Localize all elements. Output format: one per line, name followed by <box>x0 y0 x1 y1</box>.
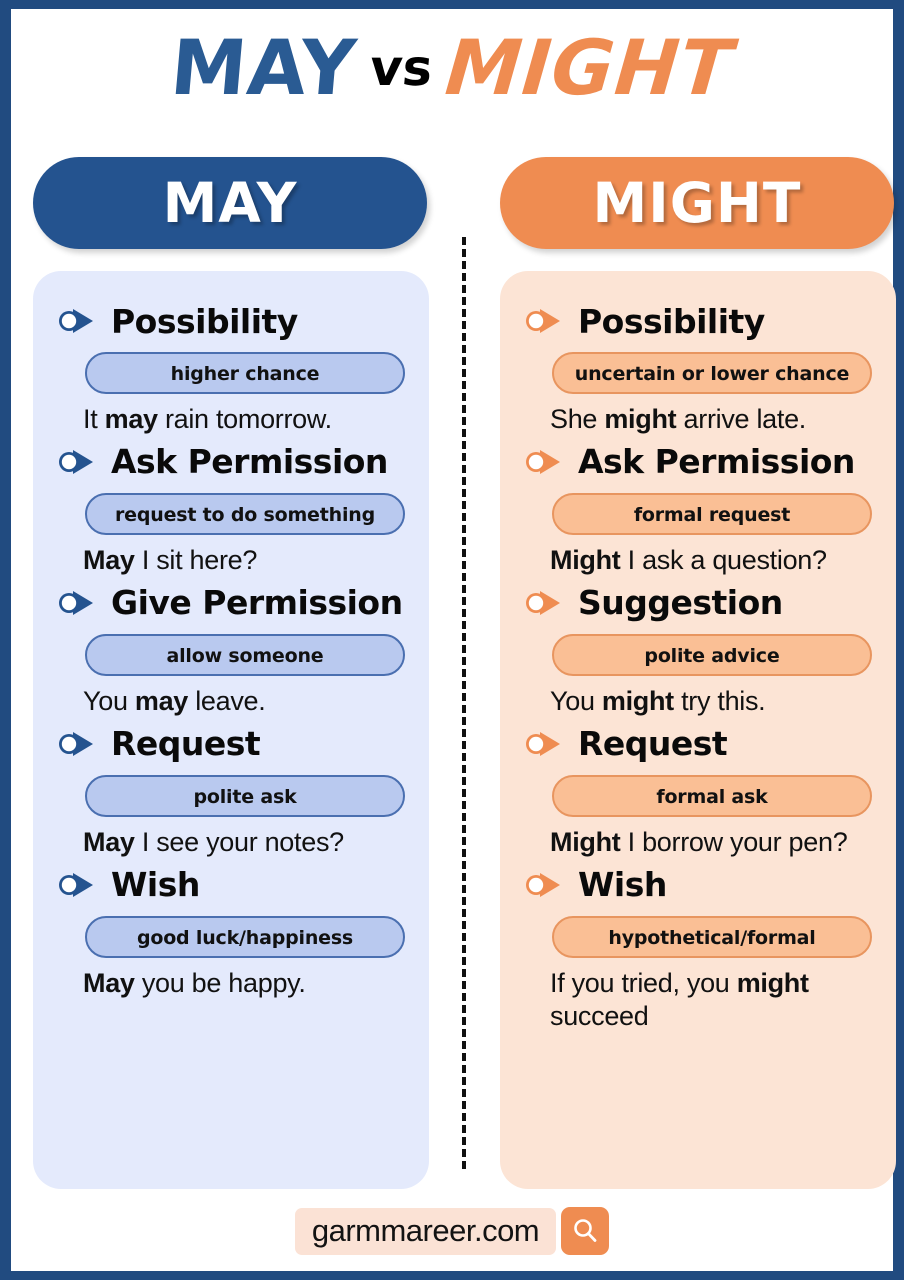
entry-example-keyword: may <box>135 686 188 716</box>
entry-title: Request <box>111 727 260 760</box>
arrow-bullet-icon <box>524 729 568 759</box>
title-word-might: MIGHT <box>443 30 736 106</box>
arrow-bullet-icon <box>57 870 101 900</box>
search-button[interactable] <box>561 1207 609 1255</box>
entry-title: Request <box>578 727 727 760</box>
entry-example-keyword: might <box>604 404 676 434</box>
arrow-bullet-icon <box>57 588 101 618</box>
entry-header: Possibility <box>524 297 872 345</box>
entry-title: Wish <box>578 868 667 901</box>
arrow-bullet-icon <box>524 447 568 477</box>
entry-may-3: Requestpolite askMay I see your notes? <box>57 720 405 859</box>
entry-might-3: Requestformal askMight I borrow your pen… <box>524 720 872 859</box>
entry-tag: request to do something <box>85 493 405 535</box>
arrow-bullet-icon <box>57 447 101 477</box>
entry-tag: formal ask <box>552 775 872 817</box>
entry-may-4: Wishgood luck/happinessMay you be happy. <box>57 861 405 1000</box>
entry-header: Wish <box>57 861 405 909</box>
search-icon <box>570 1216 600 1246</box>
entry-example: May you be happy. <box>83 967 405 1000</box>
entry-example-keyword: might <box>602 686 674 716</box>
entry-title: Suggestion <box>578 586 783 619</box>
infographic-page: MAY vs MIGHT MAY MIGHT Possibilityhigher… <box>0 0 904 1280</box>
entry-example-keyword: May <box>83 968 135 998</box>
entry-example: May I see your notes? <box>83 826 405 859</box>
column-header-may: MAY <box>33 157 427 249</box>
entry-tag: good luck/happiness <box>85 916 405 958</box>
column-divider <box>462 237 466 1169</box>
entry-title: Ask Permission <box>578 445 855 478</box>
entry-example: If you tried, you might succeed <box>550 967 872 1033</box>
entry-tag: allow someone <box>85 634 405 676</box>
arrow-bullet-icon <box>57 729 101 759</box>
column-header-might: MIGHT <box>500 157 894 249</box>
arrow-bullet-icon <box>57 306 101 336</box>
entry-example: Might I borrow your pen? <box>550 826 872 859</box>
entry-example-keyword: May <box>83 827 135 857</box>
column-header-might-label: MIGHT <box>593 171 802 235</box>
entry-title: Possibility <box>578 305 765 338</box>
entry-example-keyword: might <box>737 968 809 998</box>
entry-title: Ask Permission <box>111 445 388 478</box>
entry-title: Possibility <box>111 305 298 338</box>
entry-example: Might I ask a question? <box>550 544 872 577</box>
entry-header: Ask Permission <box>57 438 405 486</box>
entry-example: You might try this. <box>550 685 872 718</box>
card-might: Possibilityuncertain or lower chanceShe … <box>500 271 896 1189</box>
entry-might-2: Suggestionpolite adviceYou might try thi… <box>524 579 872 718</box>
entry-header: Give Permission <box>57 579 405 627</box>
entry-might-4: Wishhypothetical/formalIf you tried, you… <box>524 861 872 1033</box>
entry-tag: hypothetical/formal <box>552 916 872 958</box>
entry-example-keyword: May <box>83 545 135 575</box>
entry-may-2: Give Permissionallow someoneYou may leav… <box>57 579 405 718</box>
entry-may-0: Possibilityhigher chanceIt may rain tomo… <box>57 297 405 436</box>
entry-title: Give Permission <box>111 586 403 619</box>
entry-example: She might arrive late. <box>550 403 872 436</box>
title-connector-vs: vs <box>368 43 435 93</box>
entry-tag: uncertain or lower chance <box>552 352 872 394</box>
entry-title: Wish <box>111 868 200 901</box>
entry-header: Request <box>57 720 405 768</box>
entry-header: Suggestion <box>524 579 872 627</box>
entry-might-0: Possibilityuncertain or lower chanceShe … <box>524 297 872 436</box>
entry-tag: polite ask <box>85 775 405 817</box>
entry-tag: polite advice <box>552 634 872 676</box>
entry-header: Possibility <box>57 297 405 345</box>
footer-url: garmmareer.com <box>295 1208 556 1255</box>
entry-tag: formal request <box>552 493 872 535</box>
arrow-bullet-icon <box>524 588 568 618</box>
entry-example-keyword: Might <box>550 827 620 857</box>
entry-header: Ask Permission <box>524 438 872 486</box>
entry-tag: higher chance <box>85 352 405 394</box>
column-header-may-label: MAY <box>163 171 298 235</box>
entry-example-keyword: may <box>105 404 158 434</box>
entry-header: Wish <box>524 861 872 909</box>
entry-header: Request <box>524 720 872 768</box>
entry-might-1: Ask Permissionformal requestMight I ask … <box>524 438 872 577</box>
arrow-bullet-icon <box>524 870 568 900</box>
footer: garmmareer.com <box>11 1205 893 1257</box>
entry-example: May I sit here? <box>83 544 405 577</box>
entry-may-1: Ask Permissionrequest to do somethingMay… <box>57 438 405 577</box>
entry-example: It may rain tomorrow. <box>83 403 405 436</box>
title-word-may: MAY <box>168 30 360 106</box>
card-may: Possibilityhigher chanceIt may rain tomo… <box>33 271 429 1189</box>
entry-example: You may leave. <box>83 685 405 718</box>
arrow-bullet-icon <box>524 306 568 336</box>
page-title: MAY vs MIGHT <box>11 15 893 120</box>
entry-example-keyword: Might <box>550 545 620 575</box>
